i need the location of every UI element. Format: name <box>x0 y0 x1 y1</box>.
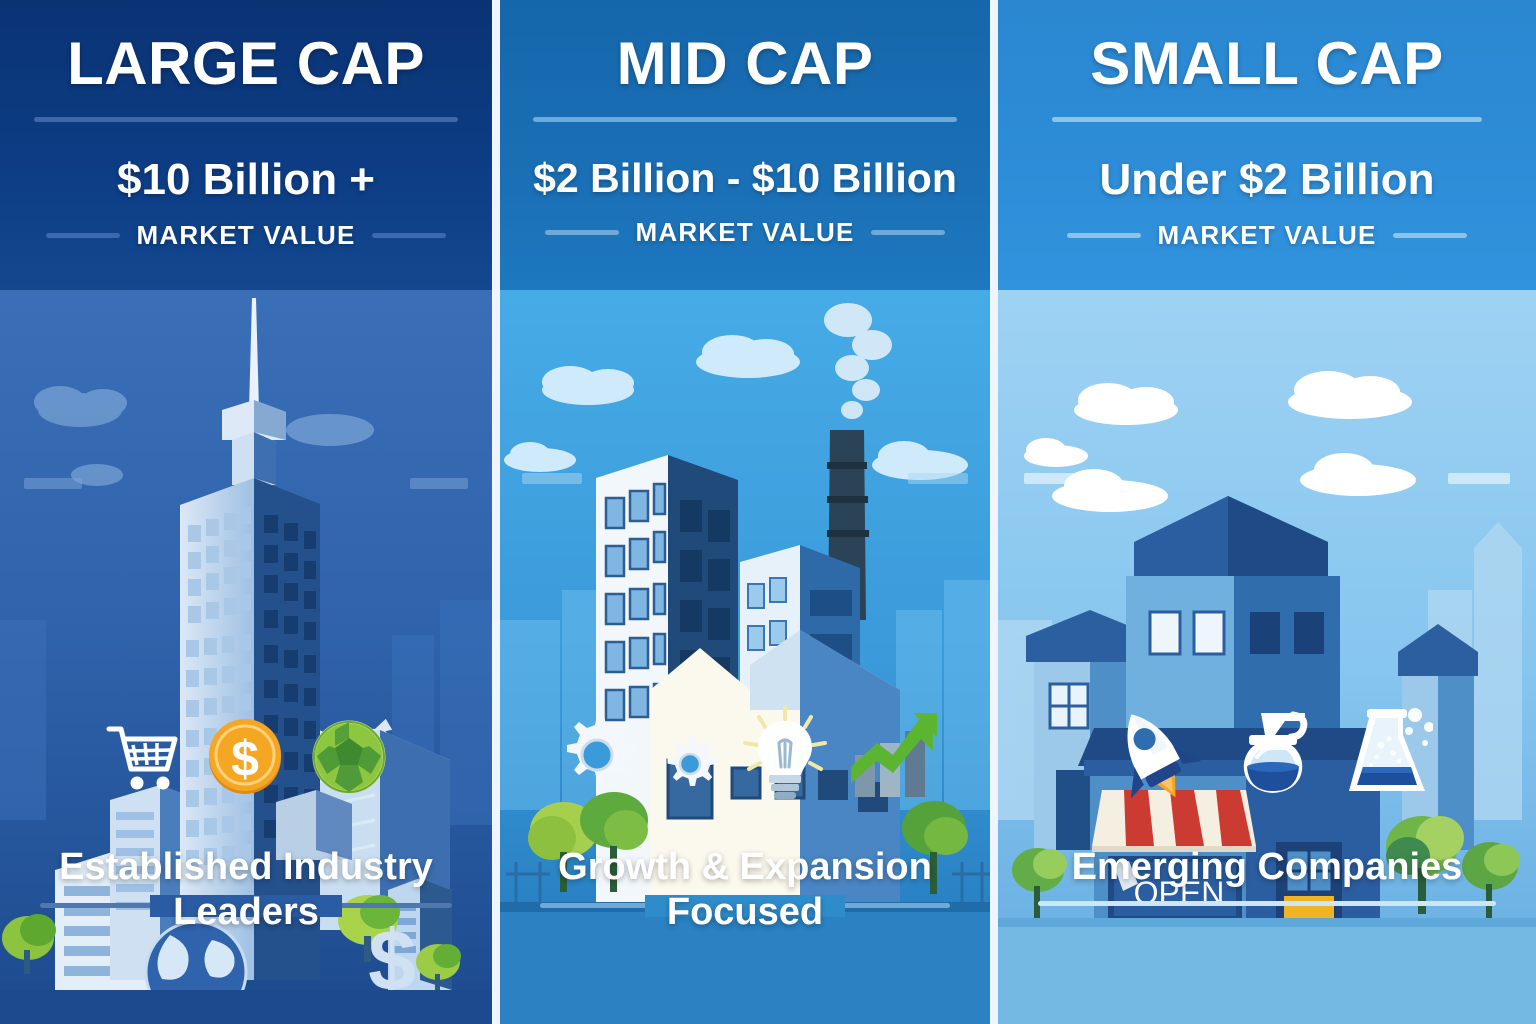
dollar-coin-icon: $ <box>199 710 291 802</box>
band-dash-left <box>522 473 582 484</box>
caption-text: Emerging Companies <box>998 845 1536 890</box>
rocket-icon <box>1101 705 1205 805</box>
panel-caption-large-cap: Established Industry Leaders <box>0 845 492 935</box>
caption-line-1: Emerging Companies <box>1072 846 1463 888</box>
caption-line-2: Leaders <box>173 891 319 933</box>
caption-line-1: Growth & Expansion <box>558 846 932 888</box>
dash-left-icon <box>1067 233 1141 238</box>
panel-caption-small-cap: Emerging Companies <box>998 845 1536 890</box>
title-divider <box>34 117 458 122</box>
market-value-row: MARKET VALUE <box>998 220 1536 251</box>
market-value-amount-large-cap: $10 Billion + <box>0 156 492 204</box>
dash-right-icon <box>871 230 945 235</box>
gear-large-icon <box>551 709 643 801</box>
market-value-amount-small-cap: Under $2 Billion <box>998 156 1536 204</box>
market-value-amount-mid-cap: $2 Billion - $10 Billion <box>500 156 990 201</box>
page-title-mid-cap: MID CAP <box>500 0 990 95</box>
market-cap-infographic: LARGE CAP $10 Billion + MARKET VALUE <box>0 0 1536 1024</box>
bubble-shape <box>1405 708 1433 746</box>
icon-band <box>500 470 990 488</box>
dash-right-icon <box>372 233 446 238</box>
caption-line-1: Established Industry <box>59 846 433 888</box>
round-flask-icon <box>1227 705 1319 805</box>
title-divider <box>1052 117 1482 122</box>
market-value-row: MARKET VALUE <box>0 220 492 251</box>
svg-text:$: $ <box>231 731 259 787</box>
icon-band <box>0 475 492 493</box>
lightbulb-icon <box>737 705 833 805</box>
panel-header-small-cap: SMALL CAP Under $2 Billion MARKET VALUE <box>998 0 1536 290</box>
panel-divider-2 <box>990 0 998 1024</box>
gear-small-icon <box>657 731 723 797</box>
dash-left-icon <box>46 233 120 238</box>
caption-rule <box>1038 901 1496 906</box>
icon-row-mid-cap <box>500 705 990 805</box>
panel-header-mid-cap: MID CAP $2 Billion - $10 Billion MARKET … <box>500 0 990 290</box>
market-value-label: MARKET VALUE <box>1157 220 1376 251</box>
scene-small-cap: OPEN <box>998 290 1536 1024</box>
storefront-illustration: OPEN <box>998 290 1536 1024</box>
caption-text: Growth & Expansion Focused <box>500 845 990 935</box>
dash-right-icon <box>1393 233 1467 238</box>
panel-large-cap: LARGE CAP $10 Billion + MARKET VALUE <box>0 0 492 1024</box>
panel-divider-1 <box>492 0 500 1024</box>
market-value-row: MARKET VALUE <box>500 217 990 248</box>
caption-line-2: Focused <box>667 891 823 933</box>
soccer-ball-icon <box>305 712 393 800</box>
band-dash-right <box>1448 473 1510 484</box>
panel-small-cap: SMALL CAP Under $2 Billion MARKET VALUE <box>998 0 1536 1024</box>
title-divider <box>533 117 957 122</box>
icon-band <box>998 470 1536 488</box>
caption-text: Established Industry Leaders <box>0 845 492 935</box>
panel-caption-mid-cap: Growth & Expansion Focused <box>500 845 990 935</box>
band-dash-right <box>908 473 968 484</box>
dash-left-icon <box>545 230 619 235</box>
erlenmeyer-flask-icon <box>1341 705 1433 805</box>
market-value-label: MARKET VALUE <box>136 220 355 251</box>
panel-header-large-cap: LARGE CAP $10 Billion + MARKET VALUE <box>0 0 492 290</box>
page-title-small-cap: SMALL CAP <box>998 0 1536 95</box>
icon-row-large-cap: $ <box>0 710 492 802</box>
band-dash-left <box>24 478 82 489</box>
page-title-large-cap: LARGE CAP <box>0 0 492 95</box>
growth-chart-icon <box>847 711 939 799</box>
shopping-cart-icon <box>99 713 185 799</box>
panel-mid-cap: MID CAP $2 Billion - $10 Billion MARKET … <box>500 0 990 1024</box>
icon-row-small-cap <box>998 705 1536 805</box>
band-dash-left <box>1024 473 1086 484</box>
band-dash-right <box>410 478 468 489</box>
market-value-label: MARKET VALUE <box>635 217 854 248</box>
